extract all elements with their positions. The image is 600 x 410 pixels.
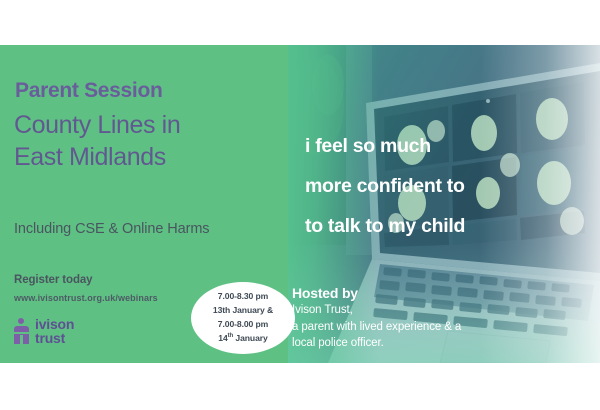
date-oval-line-1: 7.00-8.30 pm — [218, 290, 268, 304]
logo-wordmark: ivison trust — [35, 317, 74, 346]
date-oval-line-4: 14th January — [218, 332, 267, 346]
headline-line-2: East Midlands — [14, 142, 180, 174]
headline-main: County Lines in East Midlands — [14, 110, 180, 173]
hosted-by-line-3: local police officer. — [292, 335, 461, 351]
date-oval-day: 14 — [218, 333, 227, 343]
logo-name-line-1: ivison — [35, 317, 74, 331]
person-figure-icon — [13, 318, 30, 344]
date-time-oval-badge: 7.00-8.30 pm 13th January & 7.00-8.00 pm… — [191, 282, 295, 354]
headline-kicker: Parent Session — [15, 80, 163, 101]
date-oval-month: January — [233, 333, 268, 343]
webinar-promo-banner: i feel so much more confident to to talk… — [0, 45, 600, 363]
subheadline: Including CSE & Online Harms — [14, 221, 209, 237]
quote-line-3: to talk to my child — [305, 207, 585, 247]
logo-name-line-2: trust — [35, 331, 74, 345]
hosted-by-title: Hosted by — [292, 284, 461, 302]
hosted-by-line-1: Ivison Trust, — [292, 302, 461, 318]
date-oval-line-3: 7.00-8.00 pm — [218, 318, 268, 332]
hosted-by-block: Hosted by Ivison Trust, a parent with li… — [292, 284, 461, 351]
quote-block: i feel so much more confident to to talk… — [305, 127, 585, 247]
headline-line-1: County Lines in — [14, 110, 180, 142]
ivison-trust-logo[interactable]: ivison trust — [13, 317, 74, 346]
quote-line-2: more confident to — [305, 167, 585, 207]
date-oval-line-2: 13th January & — [213, 304, 273, 318]
hosted-by-line-2: a parent with lived experience & a — [292, 319, 461, 335]
banner-frame: i feel so much more confident to to talk… — [0, 0, 600, 410]
register-today-label: Register today — [14, 274, 92, 286]
quote-line-1: i feel so much — [305, 127, 585, 167]
register-url-link[interactable]: www.ivisontrust.org.uk/webinars — [14, 293, 158, 303]
